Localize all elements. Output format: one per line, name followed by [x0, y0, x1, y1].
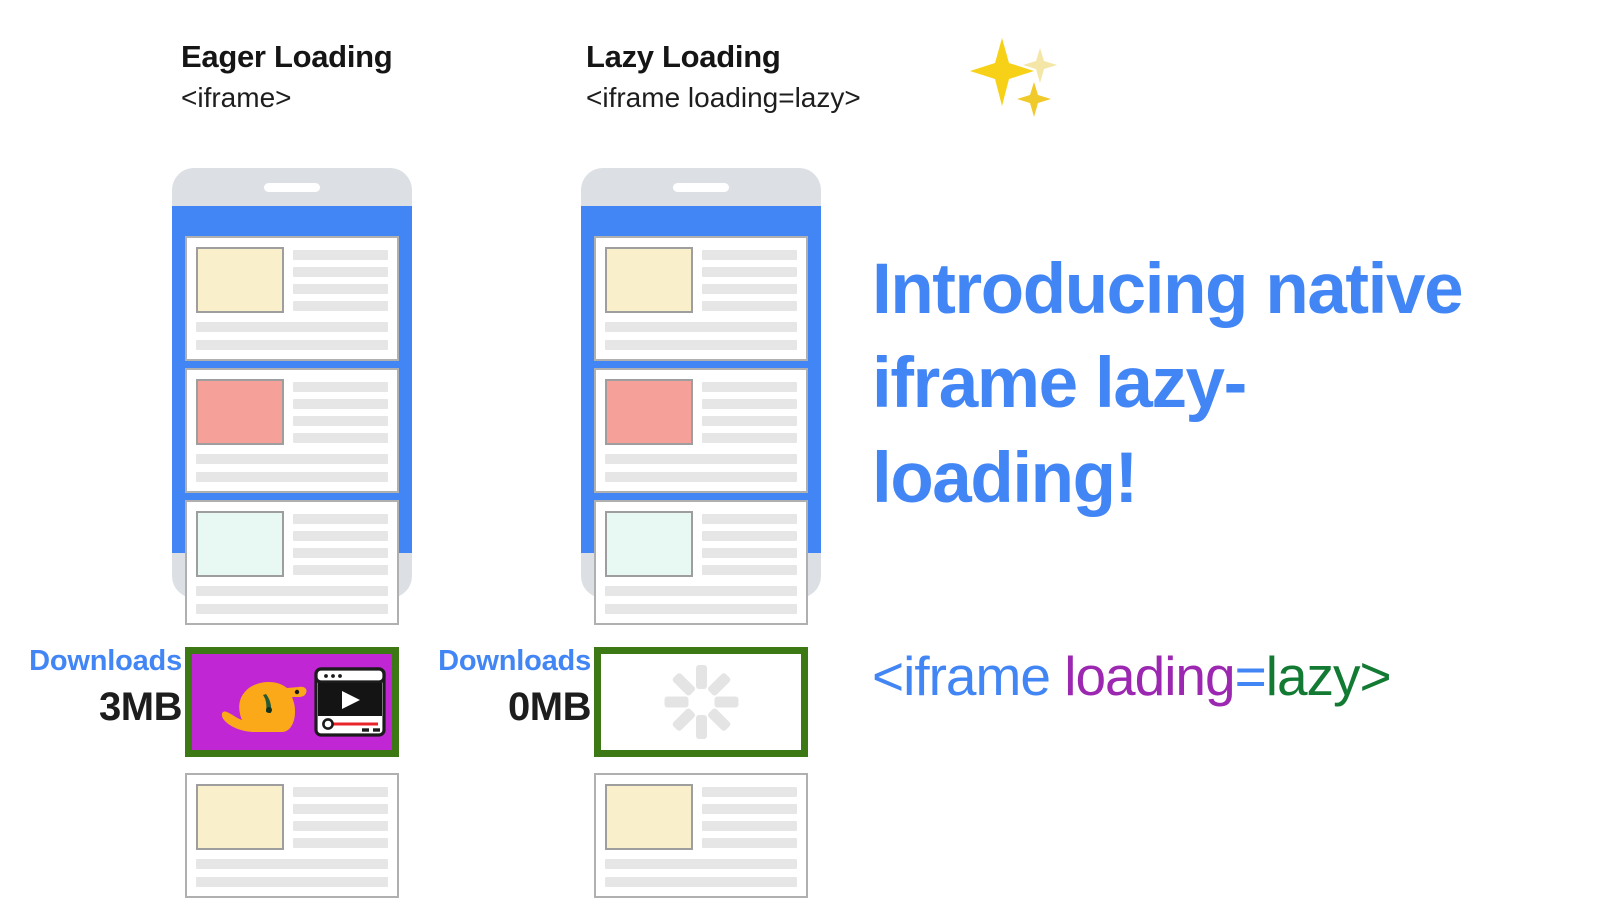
- video-thumbnail-art: [192, 654, 392, 750]
- text-line: [196, 322, 388, 332]
- text-line: [702, 804, 797, 814]
- text-line: [293, 565, 388, 575]
- code-token-equals: =: [1235, 645, 1266, 707]
- article-feed-after-eager: [185, 773, 399, 905]
- text-line: [293, 787, 388, 797]
- text-line: [293, 301, 388, 311]
- text-line: [702, 838, 797, 848]
- video-thumbnail: [192, 654, 392, 750]
- article-card: [594, 236, 808, 361]
- column-lazy: Downloads 0MB: [571, 0, 831, 919]
- article-thumbnail: [605, 379, 693, 445]
- text-line: [196, 454, 388, 464]
- video-player-icon: [316, 669, 384, 735]
- code-token-attribute: loading: [1050, 645, 1235, 707]
- article-thumbnail: [196, 511, 284, 577]
- downloads-block-eager: Downloads 3MB: [7, 646, 182, 730]
- downloads-block-lazy: Downloads 0MB: [416, 646, 591, 730]
- text-line: [196, 859, 388, 869]
- text-line: [702, 416, 797, 426]
- dog-icon: [222, 682, 307, 732]
- text-line: [702, 382, 797, 392]
- article-card: [185, 773, 399, 898]
- text-line: [293, 267, 388, 277]
- text-line: [702, 548, 797, 558]
- sparkles-icon: [962, 30, 1062, 120]
- text-line: [605, 859, 797, 869]
- article-thumbnail: [196, 379, 284, 445]
- text-line: [196, 604, 388, 614]
- text-line: [702, 531, 797, 541]
- article-card: [594, 500, 808, 625]
- code-snippet: <iframe loading=lazy>: [872, 644, 1391, 708]
- text-line: [293, 416, 388, 426]
- column-eager: Downloads 3MB: [162, 0, 422, 919]
- code-token-value: lazy>: [1266, 645, 1391, 707]
- iframe-embed-placeholder[interactable]: [594, 647, 808, 757]
- text-line: [196, 877, 388, 887]
- text-line: [605, 340, 797, 350]
- text-line: [702, 284, 797, 294]
- text-line: [702, 301, 797, 311]
- article-card: [594, 368, 808, 493]
- text-line: [702, 787, 797, 797]
- text-line: [293, 284, 388, 294]
- text-line: [605, 454, 797, 464]
- article-card: [185, 368, 399, 493]
- text-line: [702, 821, 797, 831]
- downloads-label: Downloads: [416, 646, 591, 678]
- article-thumbnail: [605, 784, 693, 850]
- text-line: [605, 322, 797, 332]
- text-line: [702, 399, 797, 409]
- downloads-label: Downloads: [7, 646, 182, 678]
- page-headline: Introducing native iframe lazy-loading!: [872, 243, 1492, 526]
- text-line: [605, 586, 797, 596]
- text-line: [196, 472, 388, 482]
- downloads-size: 3MB: [7, 684, 182, 730]
- article-card: [594, 773, 808, 898]
- article-feed-after-lazy: [594, 773, 808, 905]
- article-thumbnail: [196, 247, 284, 313]
- text-line: [605, 472, 797, 482]
- text-line: [293, 821, 388, 831]
- text-line: [605, 877, 797, 887]
- text-line: [702, 433, 797, 443]
- text-line: [293, 382, 388, 392]
- phone-speaker-icon: [264, 183, 320, 192]
- article-feed-eager: [185, 236, 399, 632]
- iframe-embed-loaded[interactable]: [185, 647, 399, 757]
- text-line: [293, 250, 388, 260]
- article-thumbnail: [605, 511, 693, 577]
- article-feed-lazy: [594, 236, 808, 632]
- text-line: [702, 514, 797, 524]
- text-line: [196, 340, 388, 350]
- text-line: [605, 604, 797, 614]
- article-thumbnail: [196, 784, 284, 850]
- text-line: [293, 433, 388, 443]
- text-line: [702, 267, 797, 277]
- text-line: [293, 531, 388, 541]
- illustration-stage: Eager Loading <iframe> Lazy Loading <ifr…: [0, 0, 1600, 919]
- text-line: [293, 548, 388, 558]
- phone-speaker-icon: [673, 183, 729, 192]
- article-card: [185, 236, 399, 361]
- text-line: [702, 250, 797, 260]
- downloads-size: 0MB: [416, 684, 591, 730]
- spinner-icon: [664, 665, 738, 739]
- text-line: [293, 838, 388, 848]
- text-line: [293, 399, 388, 409]
- article-thumbnail: [605, 247, 693, 313]
- article-card: [185, 500, 399, 625]
- text-line: [702, 565, 797, 575]
- text-line: [293, 514, 388, 524]
- text-line: [196, 586, 388, 596]
- text-line: [293, 804, 388, 814]
- code-token-tag: <iframe: [872, 645, 1050, 707]
